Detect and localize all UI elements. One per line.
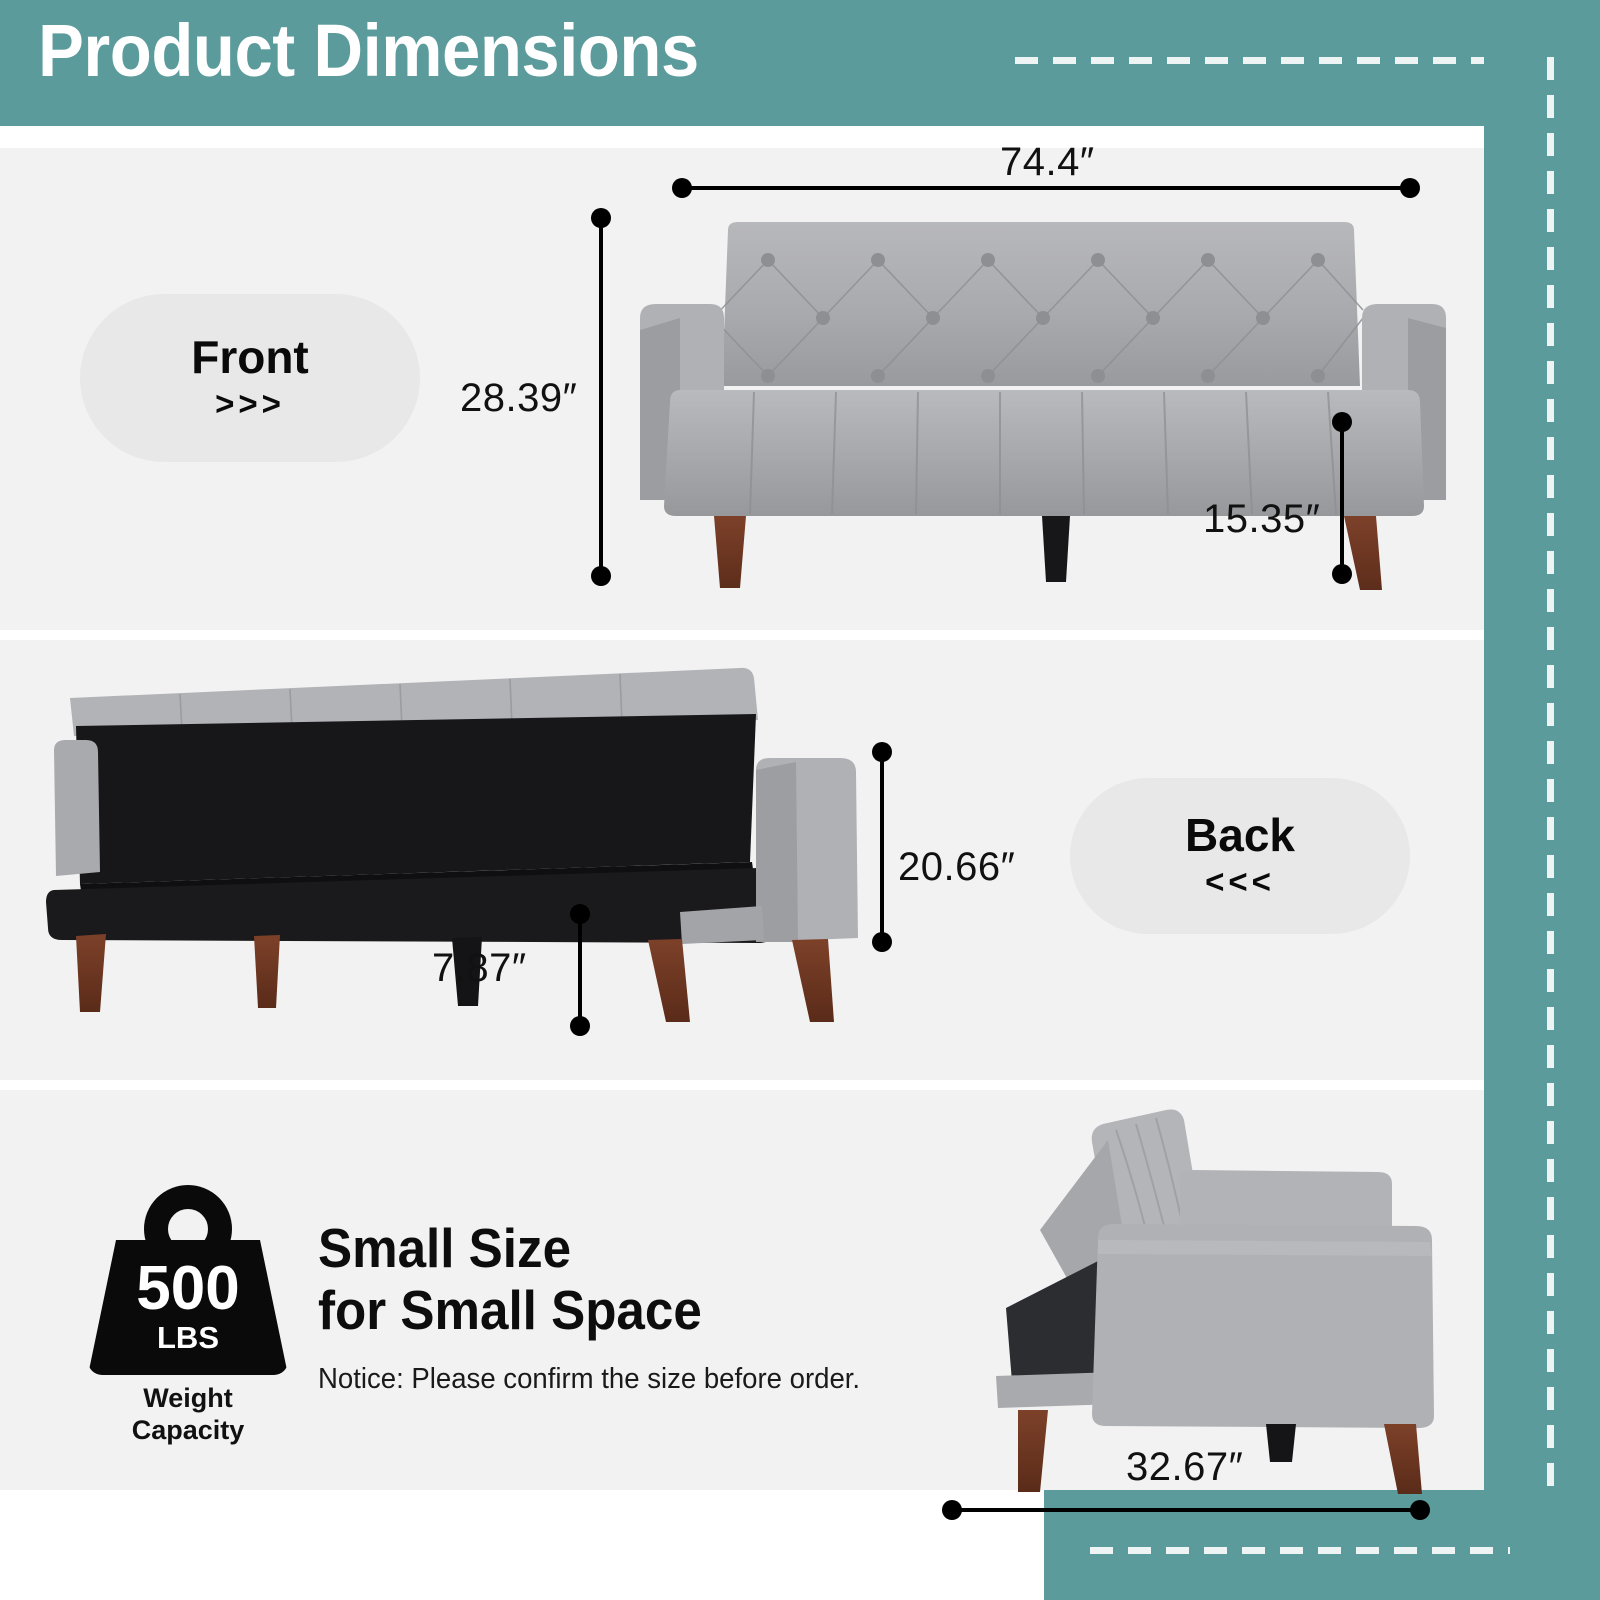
weight-body: 500 LBS (88, 1240, 288, 1375)
weight-icon: 500 LBS (88, 1185, 288, 1375)
dimension-line-overall-depth (952, 1500, 1420, 1520)
weight-caption-line1: Weight (68, 1383, 308, 1415)
dimension-label-floor-clearance: 7.87″ (432, 946, 527, 991)
right-teal-strip (1484, 0, 1600, 1490)
infographic-root: Product Dimensions (0, 0, 1600, 1600)
headline-line-2: for Small Space (318, 1280, 923, 1342)
dimension-line-seat-height (1332, 422, 1352, 574)
dimension-line-floor-clearance (570, 914, 590, 1026)
front-view-badge: Front >>> (80, 294, 420, 462)
right-dashed-line (1547, 57, 1554, 1505)
dimension-label-arm-height: 20.66″ (898, 845, 1015, 890)
dimension-label-overall-width: 74.4″ (1000, 140, 1095, 185)
header-dashed-line (1015, 57, 1525, 64)
dimension-label-overall-depth: 32.67″ (1126, 1445, 1243, 1490)
back-badge-arrows: <<< (1205, 863, 1275, 901)
dimension-label-overall-height: 28.39″ (460, 376, 577, 421)
notice-text: Notice: Please confirm the size before o… (318, 1363, 936, 1396)
weight-capacity-block: 500 LBS Weight Capacity (68, 1185, 308, 1447)
dimension-line-arm-height (872, 752, 892, 942)
weight-unit: LBS (157, 1321, 219, 1355)
weight-caption-line2: Capacity (68, 1415, 308, 1447)
sofa-side-illustration (940, 1080, 1460, 1500)
front-badge-arrows: >>> (215, 385, 285, 423)
page-title: Product Dimensions (38, 14, 699, 88)
dimension-line-overall-height (591, 218, 611, 576)
back-badge-label: Back (1185, 811, 1295, 859)
footer-dashed-line (1090, 1547, 1510, 1554)
headline-line-1: Small Size (318, 1218, 923, 1280)
dimension-label-seat-height: 15.35″ (1203, 497, 1320, 542)
marketing-copy-block: Small Size for Small Space Notice: Pleas… (318, 1218, 968, 1396)
weight-caption: Weight Capacity (68, 1383, 308, 1447)
back-view-badge: Back <<< (1070, 778, 1410, 934)
front-badge-label: Front (191, 333, 309, 381)
weight-number: 500 (136, 1260, 239, 1319)
